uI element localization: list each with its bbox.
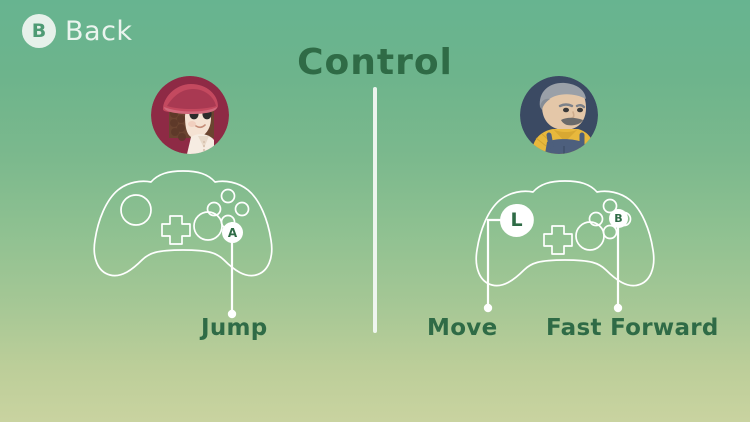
- back-button-label: Back: [65, 18, 133, 45]
- left-stick-badge[interactable]: L: [500, 204, 533, 237]
- control-settings-screen: B Back Control: [0, 0, 750, 422]
- controller-left: [88, 168, 278, 287]
- action-label-jump: Jump: [201, 315, 268, 341]
- xbox-controller-outline-right: [470, 178, 660, 293]
- avatar-old-man-character: [520, 76, 598, 154]
- controller-right: [470, 178, 660, 297]
- action-label-move: Move: [427, 315, 497, 341]
- avatar-girl-character: [151, 76, 229, 154]
- a-button-badge[interactable]: A: [222, 222, 243, 243]
- girl-avatar-artwork: [151, 76, 229, 154]
- old-man-avatar-artwork: [520, 76, 598, 154]
- b-button-badge[interactable]: B: [609, 209, 628, 228]
- panel-divider: [373, 87, 377, 333]
- page-title: Control: [0, 42, 750, 83]
- action-label-fast-forward: Fast Forward: [546, 315, 719, 341]
- xbox-controller-outline-left: [88, 168, 278, 283]
